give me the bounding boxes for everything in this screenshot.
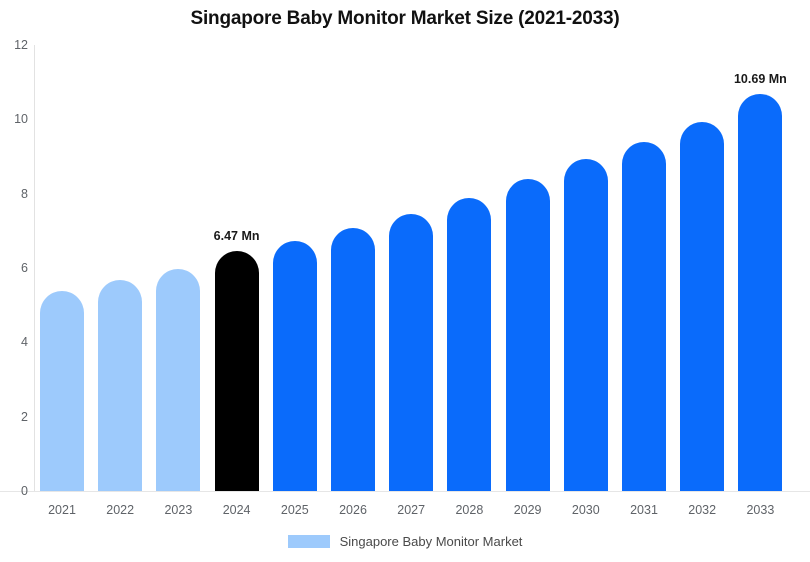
x-tick-label-2021: 2021: [32, 503, 92, 517]
bar-chart: Singapore Baby Monitor Market Size (2021…: [0, 0, 810, 562]
bar-2031[interactable]: [622, 142, 666, 491]
x-tick-label-2025: 2025: [265, 503, 325, 517]
bar-2027[interactable]: [389, 214, 433, 491]
x-tick-label-2033: 2033: [730, 503, 790, 517]
bar-2026[interactable]: [331, 228, 375, 491]
x-tick-label-2024: 2024: [207, 503, 267, 517]
y-tick-label-8: 8: [6, 187, 28, 201]
y-tick-label-12: 12: [6, 38, 28, 52]
value-label-2024: 6.47 Mn: [187, 229, 287, 243]
bar-2021[interactable]: [40, 291, 84, 491]
x-tick-label-2032: 2032: [672, 503, 732, 517]
x-tick-label-2023: 2023: [148, 503, 208, 517]
x-tick-label-2026: 2026: [323, 503, 383, 517]
legend-label: Singapore Baby Monitor Market: [340, 534, 523, 549]
bar-2022[interactable]: [98, 280, 142, 491]
x-tick-label-2030: 2030: [556, 503, 616, 517]
y-tick-label-0: 0: [6, 484, 28, 498]
chart-legend: Singapore Baby Monitor Market: [0, 534, 810, 549]
value-label-2033: 10.69 Mn: [710, 72, 810, 86]
y-tick-label-4: 4: [6, 335, 28, 349]
x-tick-label-2028: 2028: [439, 503, 499, 517]
bar-2029[interactable]: [506, 179, 550, 491]
bar-2028[interactable]: [447, 198, 491, 491]
x-tick-label-2022: 2022: [90, 503, 150, 517]
x-tick-label-2031: 2031: [614, 503, 674, 517]
x-tick-label-2029: 2029: [498, 503, 558, 517]
y-tick-label-10: 10: [6, 112, 28, 126]
bar-2025[interactable]: [273, 241, 317, 491]
y-tick-label-2: 2: [6, 410, 28, 424]
bar-2033[interactable]: [738, 94, 782, 491]
bar-2030[interactable]: [564, 159, 608, 491]
bar-2023[interactable]: [156, 269, 200, 491]
x-tick-label-2027: 2027: [381, 503, 441, 517]
y-tick-label-6: 6: [6, 261, 28, 275]
legend-swatch-singapore-baby-monitor-market: [288, 535, 330, 548]
bar-2024[interactable]: [215, 251, 259, 491]
bar-2032[interactable]: [680, 122, 724, 491]
